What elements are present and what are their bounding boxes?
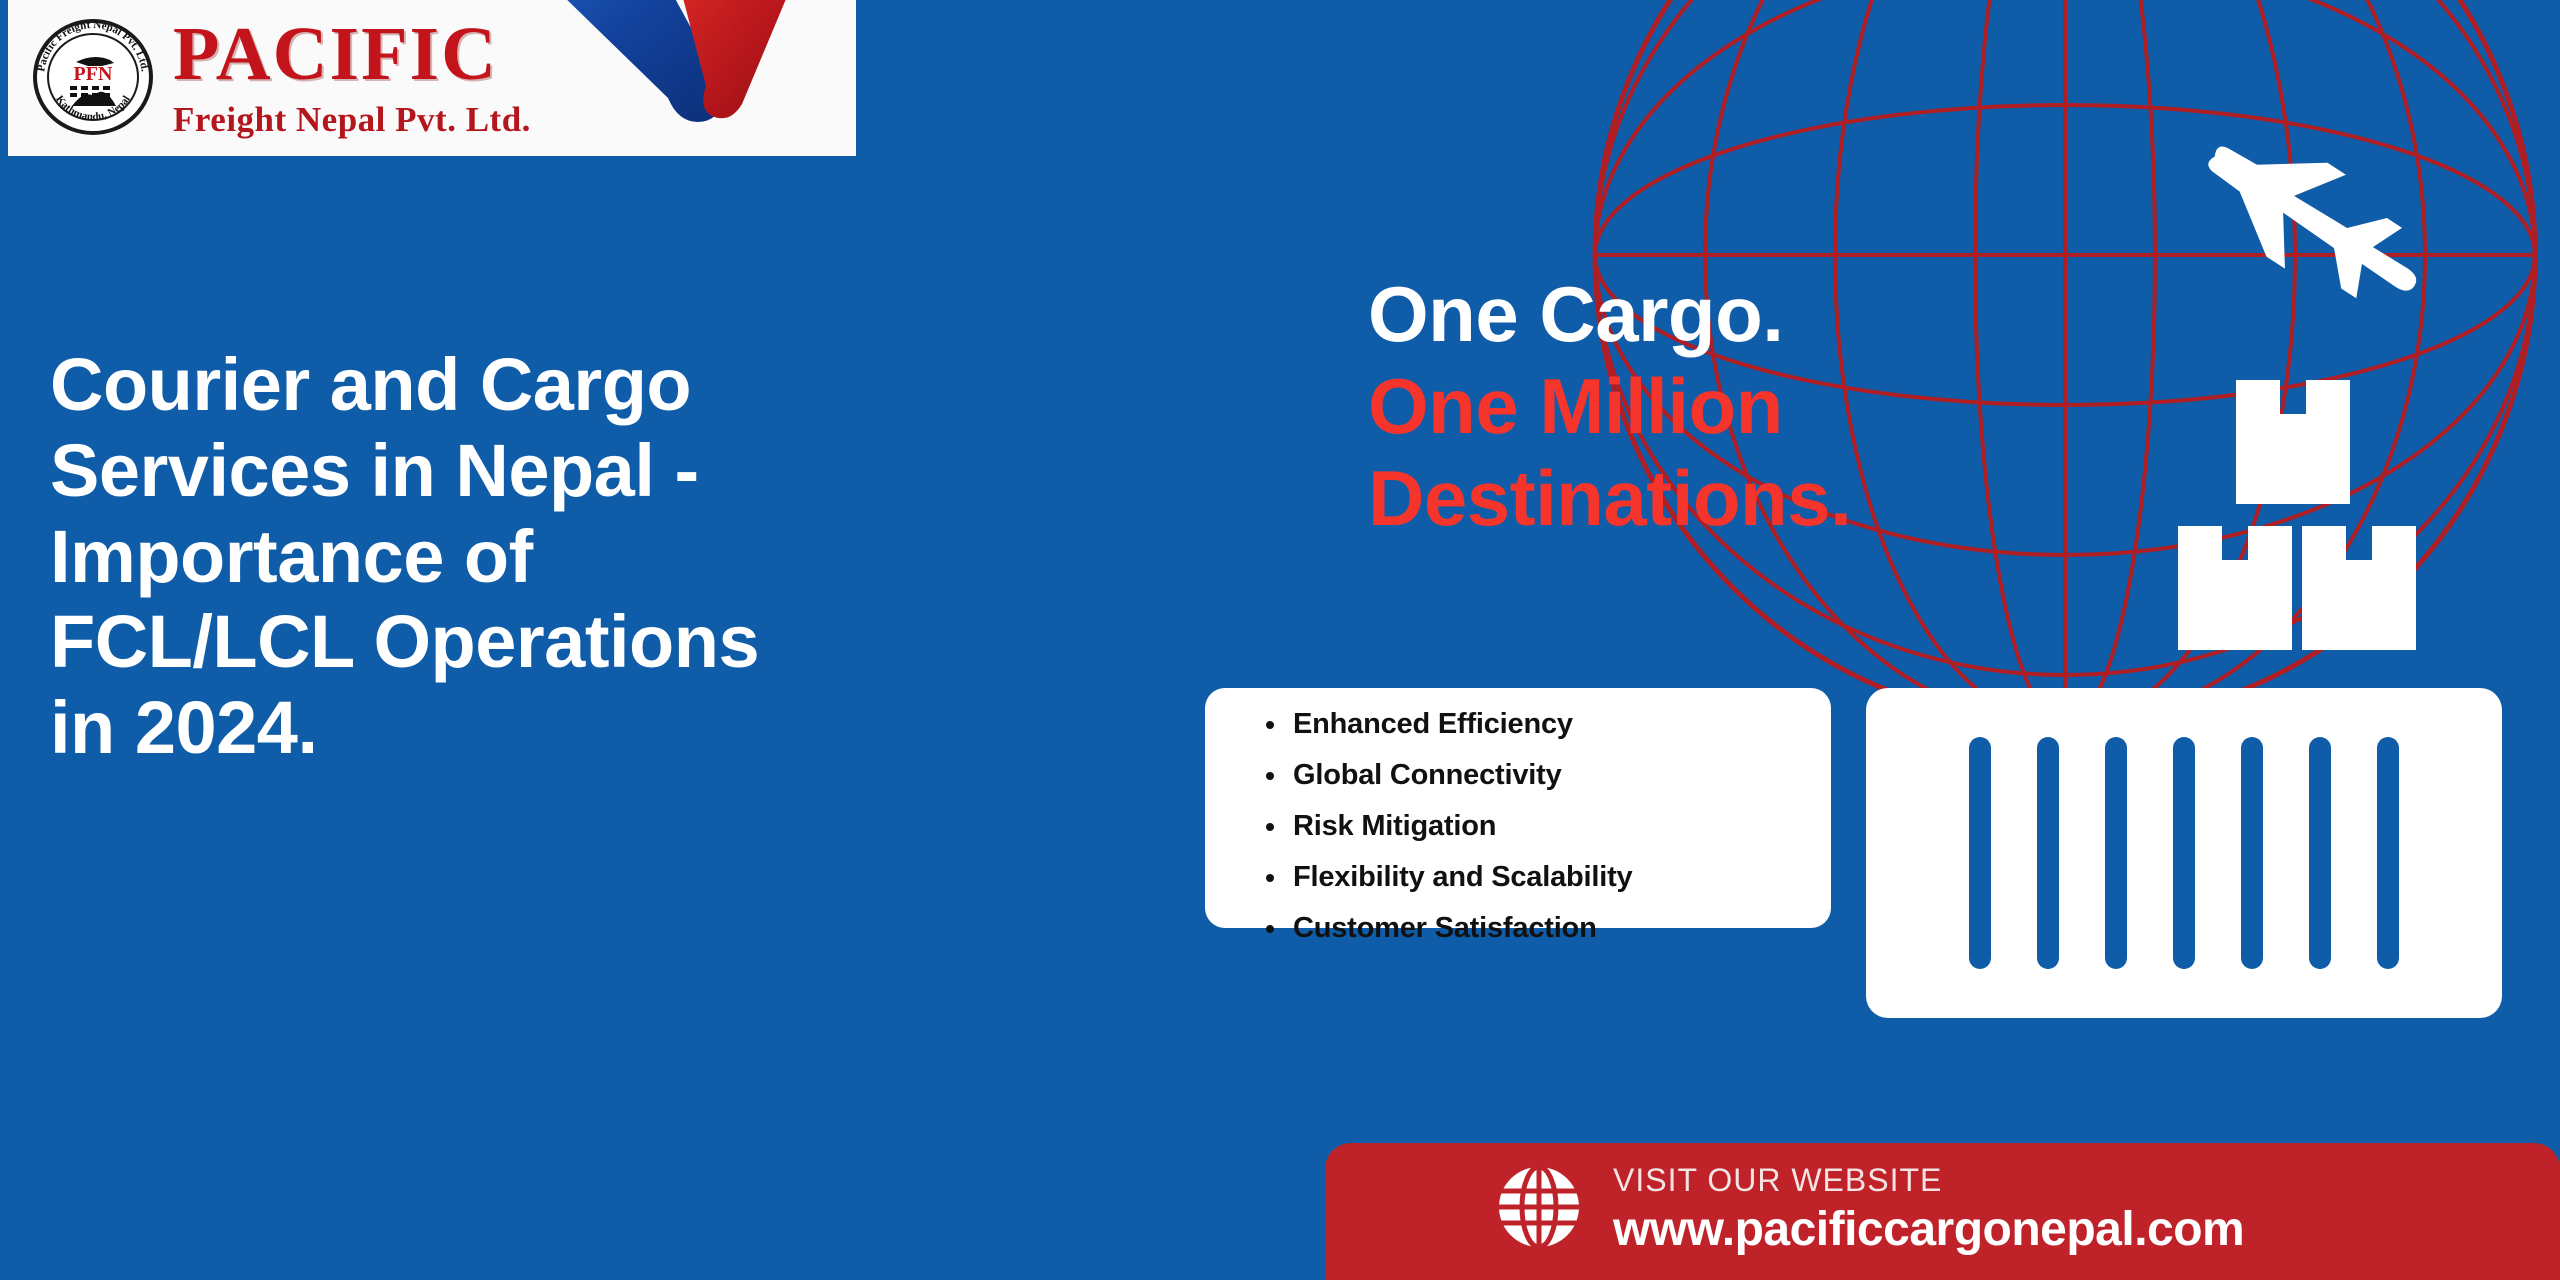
tagline-line-white: One Cargo. xyxy=(1368,268,1851,360)
website-cta-text: VISIT OUR WEBSITE www.pacificcargonepal.… xyxy=(1613,1163,2244,1257)
promo-banner: Pacific Freight Nepal Pvt. Ltd. Kathmand… xyxy=(0,0,2560,1280)
barcode-bar xyxy=(2309,737,2331,969)
feature-label-1: Enhanced Efficiency xyxy=(1289,708,1573,740)
list-item: Global Connectivity xyxy=(1289,761,1805,790)
barcode-bar xyxy=(1969,737,1991,969)
company-wordmark: PACIFIC Freight Nepal Pvt. Ltd. xyxy=(173,16,573,137)
website-url[interactable]: www.pacificcargonepal.com xyxy=(1613,1204,2244,1257)
company-logo-bar: Pacific Freight Nepal Pvt. Ltd. Kathmand… xyxy=(8,0,856,156)
company-seal-icon: Pacific Freight Nepal Pvt. Ltd. Kathmand… xyxy=(30,14,156,140)
cargo-boxes-icon xyxy=(2178,380,2488,670)
wordmark-secondary: Freight Nepal Pvt. Ltd. xyxy=(173,102,573,137)
feature-list-card: Enhanced Efficiency Global Connectivity … xyxy=(1205,688,1831,928)
headline-line-3: Importance of xyxy=(50,514,1250,600)
chevron-mark-icon xyxy=(532,0,856,156)
svg-text:PFN: PFN xyxy=(74,63,113,85)
feature-list: Enhanced Efficiency Global Connectivity … xyxy=(1261,710,1805,943)
globe-icon xyxy=(1497,1165,1581,1249)
feature-label-4: Flexibility and Scalability xyxy=(1289,861,1633,893)
tagline-line-red-1: One Million xyxy=(1368,360,1851,452)
barcode-icon xyxy=(1866,688,2502,1018)
list-item: Flexibility and Scalability xyxy=(1289,863,1805,892)
tagline: One Cargo. One Million Destinations. xyxy=(1368,268,1851,544)
barcode-bar xyxy=(2105,737,2127,969)
barcode-bar xyxy=(2241,737,2263,969)
barcode-bar xyxy=(2037,737,2059,969)
list-item: Risk Mitigation xyxy=(1289,812,1805,841)
wordmark-primary: PACIFIC xyxy=(173,16,573,92)
headline-line-1: Courier and Cargo xyxy=(50,342,1250,428)
feature-label-3: Risk Mitigation xyxy=(1289,810,1496,842)
barcode-bar xyxy=(2173,737,2195,969)
list-item: Customer Satisfaction xyxy=(1289,914,1805,943)
page-title: Courier and Cargo Services in Nepal - Im… xyxy=(50,342,1250,771)
website-cta-kicker: VISIT OUR WEBSITE xyxy=(1613,1163,2244,1198)
airplane-icon xyxy=(2150,118,2490,348)
feature-label-2: Global Connectivity xyxy=(1289,759,1562,791)
website-cta-bar[interactable]: VISIT OUR WEBSITE www.pacificcargonepal.… xyxy=(1325,1143,2560,1280)
tagline-line-red-2: Destinations. xyxy=(1368,452,1851,544)
headline-line-5: in 2024. xyxy=(50,685,1250,771)
headline-line-2: Services in Nepal - xyxy=(50,428,1250,514)
headline-line-4: FCL/LCL Operations xyxy=(50,599,1250,685)
feature-label-5: Customer Satisfaction xyxy=(1289,912,1597,944)
barcode-bar xyxy=(2377,737,2399,969)
list-item: Enhanced Efficiency xyxy=(1289,710,1805,739)
